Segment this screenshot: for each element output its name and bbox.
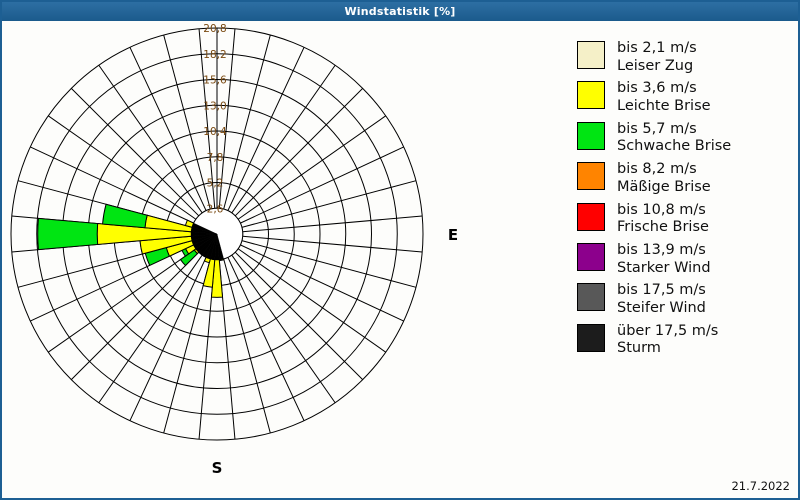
- grid-spoke: [71, 252, 198, 379]
- radial-tick-label: 5,2: [207, 178, 224, 190]
- grid-spoke: [99, 65, 202, 213]
- legend-item: bis 5,7 m/s Schwache Brise: [577, 121, 792, 156]
- legend-swatch: [577, 162, 605, 190]
- legend-name: Sturm: [617, 340, 718, 358]
- radial-tick-label: 2,6: [207, 203, 224, 215]
- legend-speed: bis 17,5 m/s: [617, 282, 706, 298]
- legend-label: bis 3,6 m/s Leichte Brise: [617, 80, 711, 115]
- grid-spoke: [232, 65, 335, 213]
- legend-item: bis 2,1 m/s Leiser Zug: [577, 40, 792, 75]
- grid-spoke: [238, 249, 386, 352]
- grid-spoke: [238, 116, 386, 219]
- legend-speed: bis 10,8 m/s: [617, 202, 706, 218]
- legend-speed: über 17,5 m/s: [617, 323, 718, 339]
- legend-label: bis 13,9 m/s Starker Wind: [617, 242, 711, 277]
- grid-spoke: [48, 249, 196, 352]
- cardinal-label-east: E: [448, 226, 458, 244]
- legend-name: Steifer Wind: [617, 300, 706, 318]
- grid-spoke: [228, 47, 304, 210]
- grid-spoke: [48, 116, 196, 219]
- grid-spoke: [240, 245, 403, 321]
- wind-petal-segment: [103, 204, 148, 227]
- legend-name: Frische Brise: [617, 219, 709, 237]
- grid-spoke: [240, 147, 403, 223]
- grid-spoke: [130, 47, 206, 210]
- legend-swatch: [577, 203, 605, 231]
- legend-swatch: [577, 41, 605, 69]
- legend-speed: bis 3,6 m/s: [617, 80, 697, 96]
- radial-tick-label: 7,8: [207, 152, 224, 164]
- legend-swatch: [577, 81, 605, 109]
- windstatistik-window: Windstatistik [%] 2,65,27,810,413,015,61…: [0, 0, 800, 500]
- cardinal-label-south: S: [212, 459, 223, 477]
- radial-tick-label: 10,4: [203, 126, 227, 138]
- wind-petals: [38, 204, 224, 297]
- legend-swatch: [577, 283, 605, 311]
- radial-tick-label: 15,6: [203, 75, 227, 87]
- grid-spoke: [235, 88, 362, 215]
- grid-spoke: [224, 259, 271, 433]
- legend-label: bis 2,1 m/s Leiser Zug: [617, 40, 697, 75]
- legend-label: bis 17,5 m/s Steifer Wind: [617, 282, 706, 317]
- legend-item: bis 8,2 m/s Mäßige Brise: [577, 161, 792, 196]
- legend-swatch: [577, 324, 605, 352]
- grid-spoke: [164, 35, 211, 209]
- chart-date: 21.7.2022: [731, 479, 790, 493]
- legend: bis 2,1 m/s Leiser Zug bis 3,6 m/s Leich…: [577, 40, 792, 363]
- legend-label: bis 10,8 m/s Frische Brise: [617, 202, 709, 237]
- legend-speed: bis 5,7 m/s: [617, 121, 697, 137]
- grid-spoke: [243, 236, 423, 252]
- radial-tick-label: 18,2: [203, 49, 226, 61]
- legend-name: Mäßige Brise: [617, 179, 711, 197]
- legend-speed: bis 2,1 m/s: [617, 40, 697, 56]
- legend-name: Leiser Zug: [617, 58, 697, 76]
- legend-item: bis 10,8 m/s Frische Brise: [577, 202, 792, 237]
- grid-spoke: [235, 252, 362, 379]
- wind-rose-plot: 2,65,27,810,413,015,618,220,8 NSEW: [2, 21, 570, 498]
- wind-rose-svg: 2,65,27,810,413,015,618,220,8 NSEW: [2, 21, 570, 498]
- window-titlebar: Windstatistik [%]: [2, 2, 798, 21]
- grid-spoke: [130, 257, 206, 420]
- grid-spoke: [232, 255, 335, 403]
- grid-spoke: [242, 181, 416, 228]
- grid-spoke: [242, 241, 416, 288]
- grid-spoke: [243, 216, 423, 232]
- legend-speed: bis 13,9 m/s: [617, 242, 706, 258]
- legend-swatch: [577, 122, 605, 150]
- radial-tick-label: 20,8: [203, 23, 226, 35]
- legend-item: bis 13,9 m/s Starker Wind: [577, 242, 792, 277]
- legend-speed: bis 8,2 m/s: [617, 161, 697, 177]
- radial-tick-label: 13,0: [203, 100, 226, 112]
- grid-spoke: [99, 255, 202, 403]
- window-title: Windstatistik [%]: [344, 5, 455, 18]
- legend-name: Starker Wind: [617, 260, 711, 278]
- legend-name: Schwache Brise: [617, 138, 731, 156]
- center-hole: [191, 208, 243, 260]
- legend-label: über 17,5 m/s Sturm: [617, 323, 718, 358]
- grid-spoke: [224, 35, 271, 209]
- wind-petal-segment: [38, 218, 98, 249]
- legend-swatch: [577, 243, 605, 271]
- legend-item: bis 3,6 m/s Leichte Brise: [577, 80, 792, 115]
- legend-item: über 17,5 m/s Sturm: [577, 323, 792, 358]
- legend-name: Leichte Brise: [617, 98, 711, 116]
- legend-item: bis 17,5 m/s Steifer Wind: [577, 282, 792, 317]
- grid-spoke: [71, 88, 198, 215]
- legend-label: bis 5,7 m/s Schwache Brise: [617, 121, 731, 156]
- grid-spoke: [228, 257, 304, 420]
- legend-label: bis 8,2 m/s Mäßige Brise: [617, 161, 711, 196]
